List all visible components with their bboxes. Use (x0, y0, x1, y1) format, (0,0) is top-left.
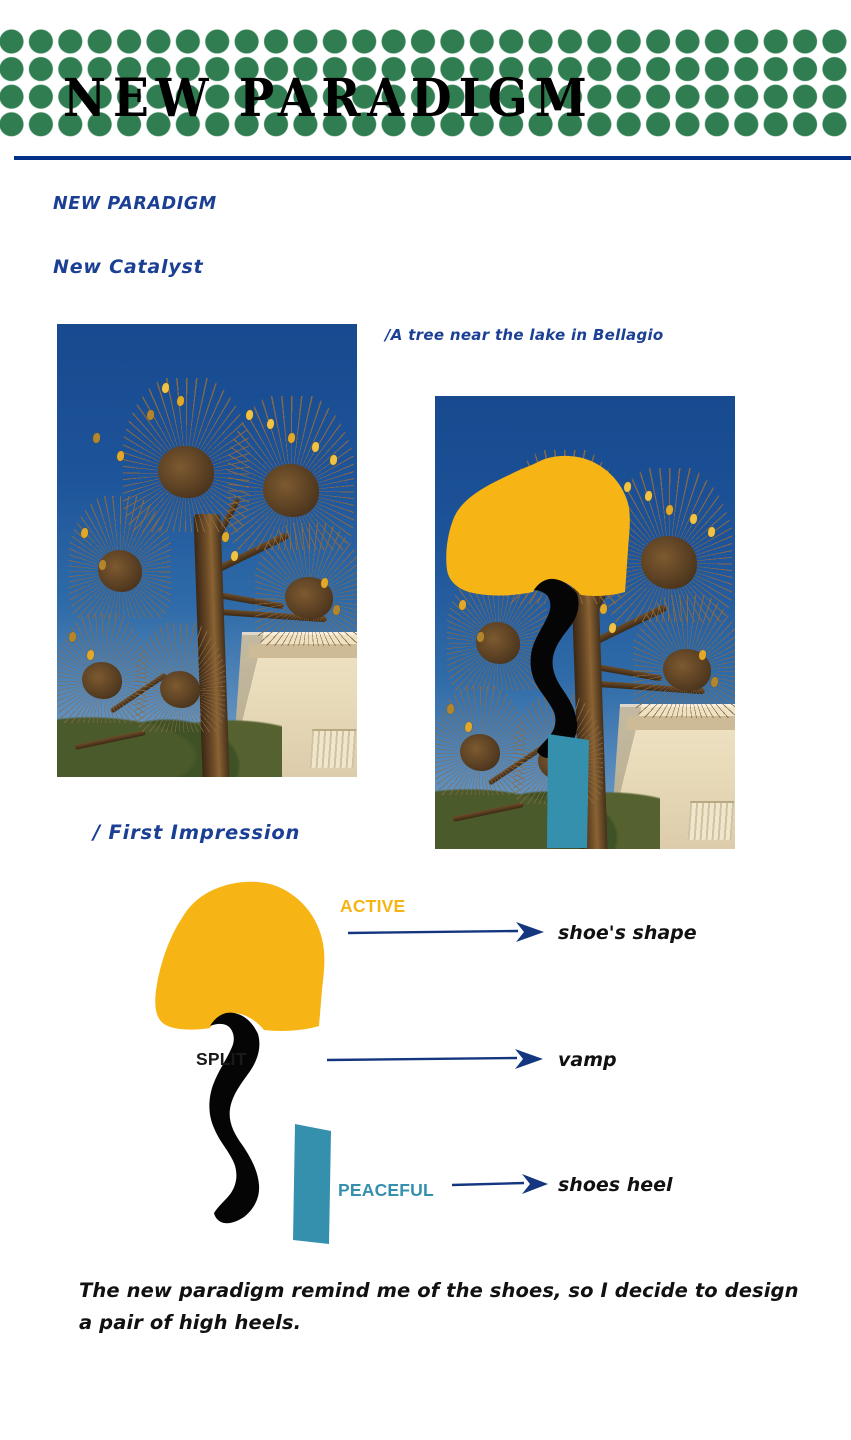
section-heading-main: NEW PARADIGM (53, 194, 217, 214)
page-title: NEW PARADIGM (63, 67, 683, 132)
diagram-keyword-peaceful: PEACEFUL (338, 1180, 434, 1201)
tree-crown (255, 523, 357, 645)
section-heading-sub: New Catalyst (53, 256, 204, 278)
black-squiggle-shape (209, 1013, 259, 1224)
photo-tree-original (57, 324, 357, 777)
tree-crown (513, 695, 603, 804)
photo-tree-annotated (435, 396, 735, 849)
diagram-arrow-split (327, 1045, 543, 1073)
tree-crown (135, 623, 225, 732)
photo-caption: /A tree near the lake in Bellagio (385, 326, 664, 344)
diagram-target-shoes-heel: shoes heel (558, 1174, 673, 1196)
diagram-target-shoes-shape: shoe's shape (558, 922, 697, 944)
tree-crown (447, 568, 549, 690)
header-band: NEW PARADIGM (0, 28, 851, 138)
tree-crown (633, 595, 735, 717)
yellow-blob-shape (155, 882, 324, 1031)
teal-bar-shape (293, 1124, 331, 1244)
body-paragraph: The new paradigm remind me of the shoes,… (79, 1275, 809, 1339)
tree-crown (57, 614, 147, 723)
diagram-arrow-active (348, 918, 544, 946)
tree-crown (69, 496, 171, 618)
tree-crown (435, 686, 525, 795)
photo-scene-left (57, 324, 357, 777)
photo-scene-right (435, 396, 735, 849)
diagram-target-vamp: vamp (558, 1049, 617, 1071)
diagram-arrow-peaceful (452, 1170, 548, 1198)
diagram-keyword-active: ACTIVE (340, 896, 405, 917)
header-divider-rule (14, 156, 851, 160)
diagram-keyword-split: SPLIT (196, 1049, 247, 1070)
section-heading-first-impression: / First Impression (93, 821, 300, 844)
